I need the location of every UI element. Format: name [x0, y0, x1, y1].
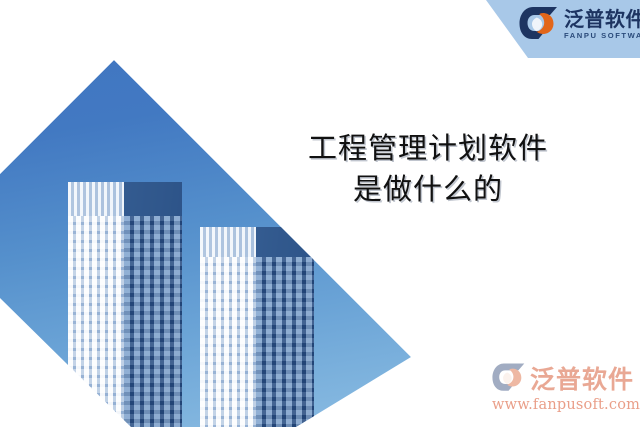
- promo-banner: 泛普软件 FANPU SOFTWARE 工程管理计划软件 是做什么的 泛普软件 …: [0, 0, 640, 427]
- skyscraper-right-dark-window-grid: [256, 257, 314, 427]
- skyscraper-left-dark-face: [124, 182, 182, 427]
- watermark-brand-cn: 泛普软件: [530, 360, 634, 396]
- brand-name-en: FANPU SOFTWARE: [564, 32, 640, 40]
- skyscraper-right-window-grid: [200, 257, 256, 427]
- skyscraper-right-dark-face: [256, 227, 314, 427]
- skyscraper-right-light-face: [200, 227, 256, 427]
- skyscraper-right-crown-fins: [200, 227, 256, 257]
- brand-name-cn: 泛普软件: [564, 9, 640, 29]
- page-title: 工程管理计划软件 是做什么的: [278, 128, 578, 210]
- watermark-brand-row: 泛普软件: [492, 360, 640, 396]
- page-title-line-1: 工程管理计划软件: [278, 128, 578, 169]
- brand-wordmark: 泛普软件 FANPU SOFTWARE: [564, 9, 640, 40]
- skyscraper-left-crown-fins: [68, 182, 124, 216]
- watermark: 泛普软件 www.fanpusoft.com: [492, 360, 640, 413]
- page-title-line-2: 是做什么的: [278, 169, 578, 210]
- fanpu-logo-mark: [519, 6, 559, 42]
- skyscraper-left-dark-window-grid: [124, 216, 182, 427]
- skyscraper-left-crown-band: [124, 182, 182, 216]
- skyscraper-right-crown-band: [256, 227, 314, 257]
- watermark-url: www.fanpusoft.com: [492, 397, 640, 413]
- brand-logo[interactable]: 泛普软件 FANPU SOFTWARE: [519, 6, 640, 42]
- hero-diamond-graphic: [0, 0, 420, 427]
- watermark-logo-mark: [492, 362, 526, 394]
- skyscraper-right: [200, 227, 314, 427]
